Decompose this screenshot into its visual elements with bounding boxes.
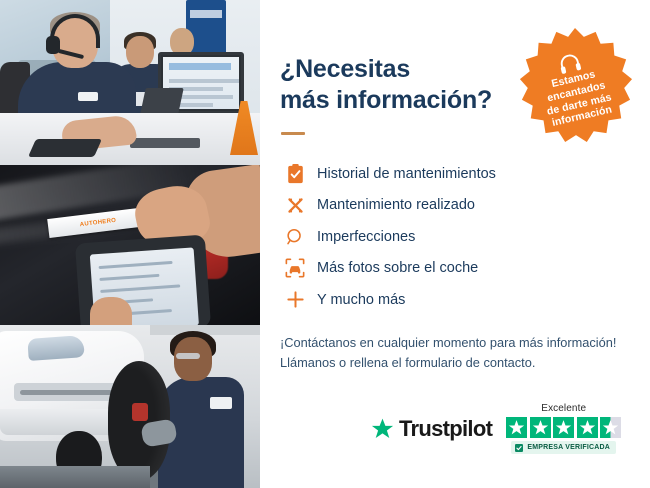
mechanic-uniform-badge <box>210 397 232 409</box>
heading-line-2: más información? <box>280 86 492 114</box>
photo-column: AUTOHERO <box>0 0 260 488</box>
star-rating <box>506 417 621 438</box>
inspector-hand-holding-tablet <box>90 297 132 325</box>
contact-paragraph: ¡Contáctanos en cualquier momento para m… <box>280 333 628 373</box>
feature-list: Historial de mantenimientos M <box>280 158 628 316</box>
call-center-agent-headset-photo <box>0 0 260 165</box>
car-photo-frame-icon <box>280 258 310 278</box>
tablet-row <box>100 284 180 293</box>
list-item: Imperfecciones <box>280 221 628 253</box>
contact-info-promo-card: AUTOHERO <box>0 0 650 488</box>
accent-divider <box>281 132 305 135</box>
screen-row <box>169 79 239 83</box>
wall-banner <box>186 0 226 60</box>
ruler-brand-hero: HERO <box>97 217 116 225</box>
tablet-row <box>99 274 159 281</box>
agent-name-badge <box>78 92 98 101</box>
contact-line-2: Llámanos o rellena el formulario de cont… <box>280 355 535 370</box>
screen-toolbar <box>169 63 231 70</box>
ruler-brand-label: AUTOHERO <box>79 217 116 227</box>
ruler-brand-auto: AUTO <box>79 220 98 228</box>
desk-tablet <box>28 139 102 157</box>
list-item-label: Historial de mantenimientos <box>317 166 496 182</box>
rating-label: Excelente <box>541 403 586 414</box>
second-agent-head <box>126 36 154 68</box>
star-filled <box>553 417 574 438</box>
trustpilot-score: Excelente <box>506 403 621 454</box>
mechanic-wheel-inspection-photo <box>0 325 260 488</box>
list-item-label: Más fotos sobre el coche <box>317 260 478 276</box>
heading-line-1: ¿Necesitas <box>280 55 410 83</box>
list-item: Y mucho más <box>280 284 628 316</box>
clipboard-check-icon <box>280 164 310 184</box>
status-badge: Estamos encantados de darte más informac… <box>516 26 634 146</box>
contact-line-1: ¡Contáctanos en cualquier momento para m… <box>280 335 616 350</box>
list-item-label: Mantenimiento realizado <box>317 197 475 213</box>
trustpilot-wordmark: Trustpilot <box>399 416 492 442</box>
trustpilot-logo[interactable]: Trustpilot <box>370 416 492 442</box>
badge-text: Estamos encantados de darte más informac… <box>527 63 628 134</box>
plus-icon <box>280 290 310 309</box>
magnifier-icon <box>280 228 310 246</box>
list-item-label: Y mucho más <box>317 292 405 308</box>
mechanic-head <box>174 337 212 381</box>
list-item: Mantenimiento realizado <box>280 190 628 222</box>
list-item: Historial de mantenimientos <box>280 158 628 190</box>
safety-glasses <box>176 353 200 359</box>
list-item: Más fotos sobre el coche <box>280 253 628 285</box>
star-filled <box>506 417 527 438</box>
hand-tool <box>132 403 148 421</box>
car-headlight <box>27 335 84 361</box>
crossed-tools-icon <box>280 196 310 215</box>
trustpilot-star-icon <box>370 417 395 441</box>
verified-label: EMPRESA VERIFICADA <box>527 444 610 451</box>
star-half <box>600 417 621 438</box>
car-grille <box>14 383 118 401</box>
star-filled <box>577 417 598 438</box>
laptop-base <box>130 138 200 148</box>
car-lift-ramp <box>0 466 150 488</box>
trustpilot-rating-block[interactable]: Trustpilot Excelente <box>370 403 621 454</box>
autohero-ruler-inspection-photo: AUTOHERO <box>0 165 260 325</box>
star-filled <box>530 417 551 438</box>
tablet-row <box>99 261 173 269</box>
list-item-label: Imperfecciones <box>317 229 415 245</box>
verified-check-icon <box>515 444 523 452</box>
status-badge: EMPRESA VERIFICADA <box>511 441 616 454</box>
content-panel: ¿Necesitas más información? Estamos enca… <box>260 0 650 488</box>
page-title: ¿Necesitas más información? <box>280 54 510 115</box>
